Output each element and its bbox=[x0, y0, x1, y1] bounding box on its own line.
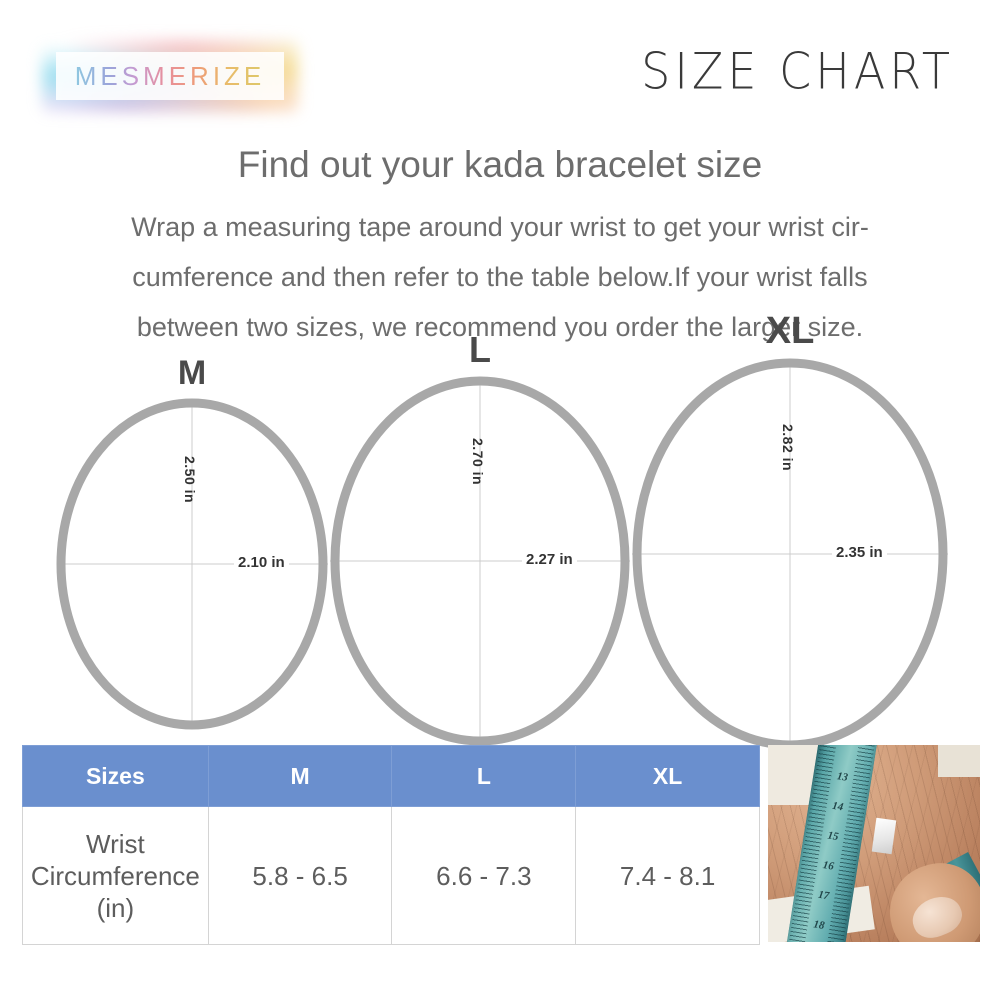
size-chart-page: MESMERIZE SIZE CHART Find out your kada … bbox=[0, 0, 1000, 1000]
logo-plate: MESMERIZE bbox=[56, 52, 284, 100]
oval-size-letter-l: L bbox=[330, 332, 630, 368]
oval-size-letter-m: M bbox=[56, 356, 328, 390]
size-table: Sizes M L XL Wrist Circumference (in) 5.… bbox=[22, 745, 760, 945]
oval-diagram-group: M 2.50 in 2.10 in L 2.70 in 2.27 in XL bbox=[0, 350, 1000, 750]
photo-background-top-right bbox=[938, 745, 980, 777]
oval-height-label-xl: 2.82 in bbox=[780, 424, 796, 471]
table-header-sizes: Sizes bbox=[23, 746, 209, 807]
table-header-m: M bbox=[208, 746, 392, 807]
row-label-wrist-circumference: Wrist Circumference (in) bbox=[23, 807, 209, 945]
oval-height-label-l: 2.70 in bbox=[470, 438, 486, 485]
cell-wrist-circumference-m: 5.8 - 6.5 bbox=[208, 807, 392, 945]
intro-heading: Find out your kada bracelet size bbox=[0, 144, 1000, 186]
oval-diagram-l: L 2.70 in 2.27 in bbox=[330, 376, 630, 746]
intro-paragraph-line-1: Wrap a measuring tape around your wrist … bbox=[50, 202, 950, 252]
oval-diagram-m: M 2.50 in 2.10 in bbox=[56, 398, 328, 730]
oval-width-label-xl: 2.35 in bbox=[832, 544, 887, 561]
intro-paragraph-line-2: cumference and then refer to the table b… bbox=[50, 252, 950, 302]
table-header-l: L bbox=[392, 746, 576, 807]
wrist-measurement-photo: 13 14 15 16 17 18 bbox=[768, 745, 980, 942]
oval-diagram-xl: XL 2.82 in 2.35 in bbox=[632, 358, 948, 750]
cell-wrist-circumference-l: 6.6 - 7.3 bbox=[392, 807, 576, 945]
oval-shape-l bbox=[330, 376, 630, 746]
table-header-row: Sizes M L XL bbox=[23, 746, 760, 807]
oval-width-label-m: 2.10 in bbox=[234, 554, 289, 571]
brand-logo: MESMERIZE bbox=[56, 52, 284, 100]
logo-text: MESMERIZE bbox=[75, 61, 266, 92]
oval-width-label-l: 2.27 in bbox=[522, 551, 577, 568]
oval-height-label-m: 2.50 in bbox=[182, 456, 198, 503]
oval-size-letter-xl: XL bbox=[632, 312, 948, 350]
oval-shape-xl bbox=[632, 358, 948, 750]
page-title: SIZE CHART bbox=[641, 42, 954, 100]
table-row: Wrist Circumference (in) 5.8 - 6.5 6.6 -… bbox=[23, 807, 760, 945]
cell-wrist-circumference-xl: 7.4 - 8.1 bbox=[576, 807, 760, 945]
table-header-xl: XL bbox=[576, 746, 760, 807]
